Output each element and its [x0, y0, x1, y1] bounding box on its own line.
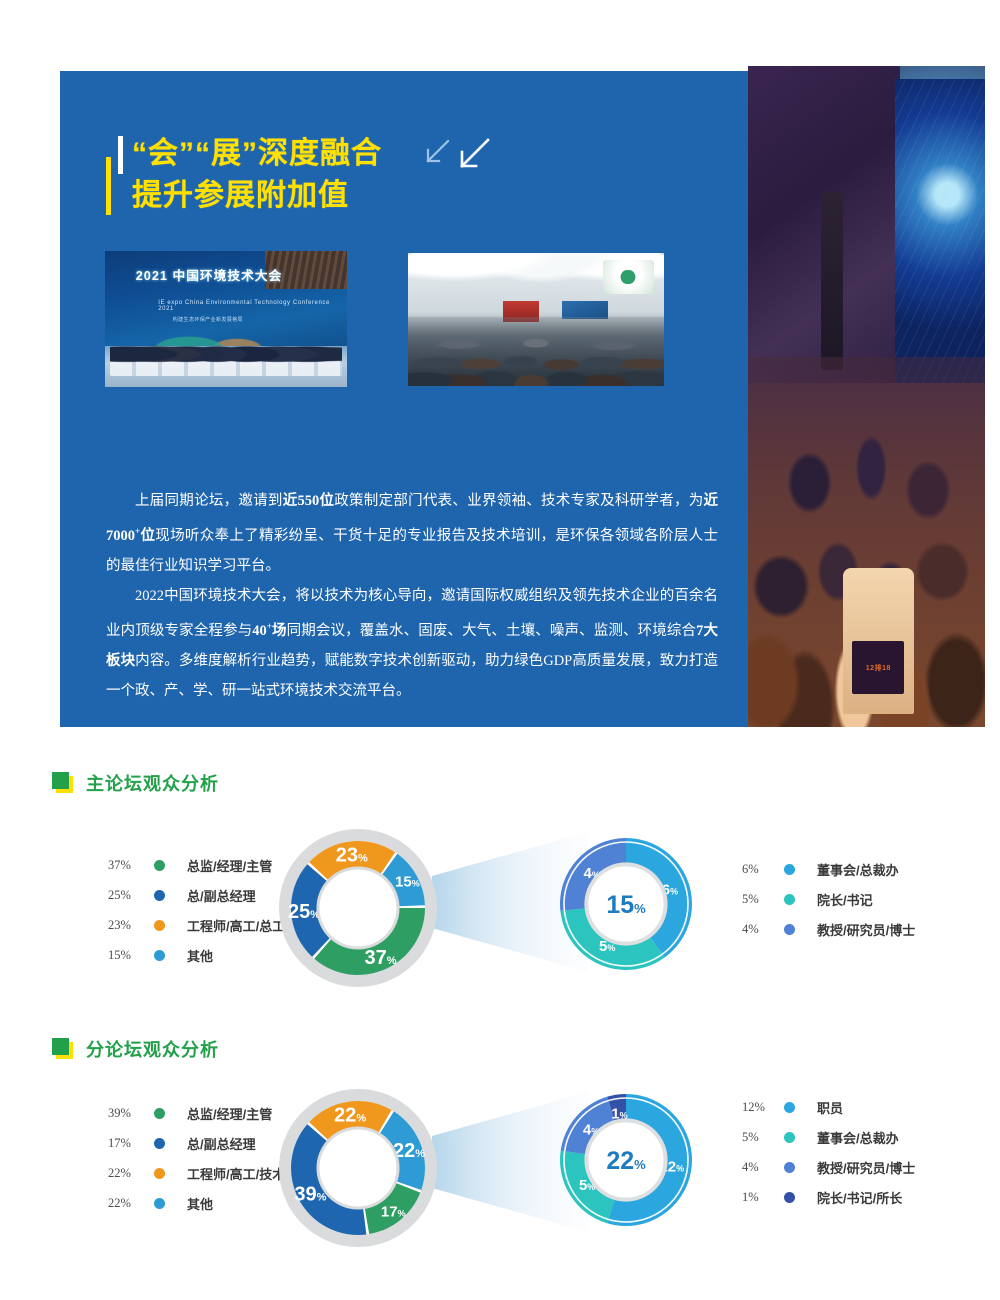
white-bar	[118, 136, 123, 174]
legend-item[interactable]: 25%总/副总经理	[108, 880, 285, 910]
hall-led-screen	[895, 79, 985, 383]
double-arrow-down-left-icon	[418, 137, 494, 179]
legend-color-dot	[154, 890, 165, 901]
hall-background: 12排18	[748, 66, 985, 727]
legend-color-dot	[784, 1192, 795, 1203]
legend-percent: 37%	[108, 858, 154, 873]
legend-color-dot	[154, 1198, 165, 1209]
legend-color-dot	[784, 1132, 795, 1143]
legend-item[interactable]: 6%董事会/总裁办	[742, 854, 915, 884]
legend-main-forum-left: 37%总监/经理/主管25%总/副总经理23%工程师/高工/总工15%其他	[108, 850, 285, 970]
legend-item[interactable]: 17%总/副总经理	[108, 1128, 285, 1158]
legend-label: 董事会/总裁办	[817, 1128, 899, 1147]
legend-percent: 15%	[108, 948, 154, 963]
legend-label: 总监/经理/主管	[187, 856, 272, 875]
legend-percent: 1%	[742, 1190, 784, 1205]
legend-percent: 5%	[742, 1130, 784, 1145]
legend-item[interactable]: 23%工程师/高工/总工	[108, 910, 285, 940]
donut-center-hole	[318, 1128, 398, 1208]
legend-label: 工程师/高工/总工	[187, 916, 285, 935]
legend-item[interactable]: 22%其他	[108, 1188, 285, 1218]
legend-percent: 4%	[742, 922, 784, 937]
text-run: 40	[252, 623, 267, 639]
section-title: 主论坛观众分析	[86, 770, 219, 796]
legend-color-dot	[784, 894, 795, 905]
legend-item[interactable]: 5%董事会/总裁办	[742, 1122, 915, 1152]
legend-label: 院长/书记/所长	[817, 1188, 902, 1207]
text-run: 近550位	[283, 493, 335, 509]
hero-banner: 12排18 “会”“展”深度融合 提升参展附加值	[60, 71, 985, 727]
donut-chart-main-forum-detail: 6%5%4%15%	[560, 838, 692, 970]
legend-percent: 23%	[108, 918, 154, 933]
section-main-forum: 主论坛观众分析 37%总监/经理/主管25%总/副总经理23%工程师/高工/总工…	[0, 770, 1000, 1020]
legend-label: 教授/研究员/博士	[817, 1158, 915, 1177]
hero-paragraph-1: 上届同期论坛，邀请到近550位政策制定部门代表、业界领袖、技术专家及科研学者，为…	[106, 486, 718, 581]
line-array-speaker	[821, 192, 842, 370]
legend-main-forum-right: 6%董事会/总裁办5%院长/书记4%教授/研究员/博士	[742, 854, 915, 944]
hero-title: “会”“展”深度融合 提升参展附加值	[132, 133, 382, 217]
legend-percent: 12%	[742, 1100, 784, 1115]
donut-chart-sub-forum: 22%22%17%39%	[282, 1092, 434, 1244]
legend-label: 其他	[187, 946, 213, 965]
section-header-sub-forum: 分论坛观众分析	[52, 1036, 219, 1062]
text-run: 场	[272, 623, 287, 639]
conference-audience-photo: 12排18	[748, 66, 985, 727]
legend-percent: 5%	[742, 892, 784, 907]
legend-sub-forum-left: 39%总监/经理/主管17%总/副总经理22%工程师/高工/技术22%其他	[108, 1098, 285, 1218]
legend-label: 总/副总经理	[187, 1134, 256, 1153]
legend-item[interactable]: 12%职员	[742, 1092, 915, 1122]
text-run: 上届同期论坛，邀请到	[135, 493, 283, 509]
poster-page: 12排18 “会”“展”深度融合 提升参展附加值	[0, 0, 1000, 1300]
legend-item[interactable]: 37%总监/经理/主管	[108, 850, 285, 880]
seat-number-tag: 12排18	[852, 641, 904, 694]
legend-color-dot	[784, 1162, 795, 1173]
legend-percent: 4%	[742, 1160, 784, 1175]
legend-color-dot	[154, 1108, 165, 1119]
section-sub-forum: 分论坛观众分析 39%总监/经理/主管17%总/副总经理22%工程师/高工/技术…	[0, 1036, 1000, 1286]
green-square-icon	[52, 772, 74, 794]
legend-item[interactable]: 22%工程师/高工/技术	[108, 1158, 285, 1188]
legend-color-dot	[154, 1138, 165, 1149]
legend-color-dot	[784, 1102, 795, 1113]
legend-item[interactable]: 4%教授/研究员/博士	[742, 914, 915, 944]
legend-color-dot	[154, 1168, 165, 1179]
legend-color-dot	[784, 864, 795, 875]
legend-color-dot	[154, 920, 165, 931]
forum-panel-photo: 2021 中国环境技术大会 IE expo China Environmenta…	[105, 251, 347, 387]
text-run: 位	[140, 528, 155, 544]
legend-label: 总监/经理/主管	[187, 1104, 272, 1123]
green-square-icon	[52, 1038, 74, 1060]
legend-percent: 22%	[108, 1166, 154, 1181]
text-run: 同期会议，覆盖水、固废、大气、土壤、噪声、监测、环境综合	[287, 623, 697, 639]
section-title: 分论坛观众分析	[86, 1036, 219, 1062]
photo2-corner-badge	[603, 260, 654, 295]
text-run: 现场听众奉上了精彩纷呈、干货十足的专业报告及技术培训，是环保各领域各阶层人士的最…	[106, 528, 718, 574]
legend-sub-forum-right: 12%职员5%董事会/总裁办4%教授/研究员/博士1%院长/书记/所长	[742, 1092, 915, 1212]
legend-color-dot	[154, 860, 165, 871]
legend-label: 其他	[187, 1194, 213, 1213]
legend-label: 教授/研究员/博士	[817, 920, 915, 939]
text-run: 内容。多维度解析行业趋势，赋能数字技术创新驱动，助力绿色GDP高质量发展，致力打…	[106, 653, 718, 699]
photo2-audience	[408, 317, 664, 386]
legend-percent: 17%	[108, 1136, 154, 1151]
legend-percent: 25%	[108, 888, 154, 903]
legend-percent: 6%	[742, 862, 784, 877]
donut-chart-main-forum: 23%15%37%25%	[282, 832, 434, 984]
yellow-bar	[106, 157, 111, 215]
legend-label: 工程师/高工/技术	[187, 1164, 285, 1183]
hero-paragraph-2: 2022中国环境技术大会，将以技术为核心导向，邀请国际权威组织及领先技术企业的百…	[106, 581, 718, 706]
legend-item[interactable]: 39%总监/经理/主管	[108, 1098, 285, 1128]
legend-item[interactable]: 1%院长/书记/所长	[742, 1182, 915, 1212]
legend-label: 总/副总经理	[187, 886, 256, 905]
text-run: 政策制定部门代表、业界领袖、技术专家及科研学者，为	[334, 493, 703, 509]
legend-label: 院长/书记	[817, 890, 873, 909]
legend-color-dot	[784, 924, 795, 935]
legend-percent: 39%	[108, 1106, 154, 1121]
legend-percent: 22%	[108, 1196, 154, 1211]
legend-label: 董事会/总裁办	[817, 860, 899, 879]
exhibition-hall-photo	[408, 253, 664, 386]
legend-item[interactable]: 4%教授/研究员/博士	[742, 1152, 915, 1182]
legend-label: 职员	[817, 1098, 843, 1117]
donut-chart-sub-forum-detail: 12%5%4%1%22%	[560, 1094, 692, 1226]
photo1-panelists	[110, 322, 342, 368]
legend-item[interactable]: 5%院长/书记	[742, 884, 915, 914]
legend-color-dot	[154, 950, 165, 961]
hero-description: 上届同期论坛，邀请到近550位政策制定部门代表、业界领袖、技术专家及科研学者，为…	[106, 486, 718, 706]
legend-item[interactable]: 15%其他	[108, 940, 285, 970]
section-header-main-forum: 主论坛观众分析	[52, 770, 219, 796]
photo1-logo-text: 2021 中国环境技术大会	[136, 265, 302, 294]
donut-center-hole	[318, 868, 398, 948]
